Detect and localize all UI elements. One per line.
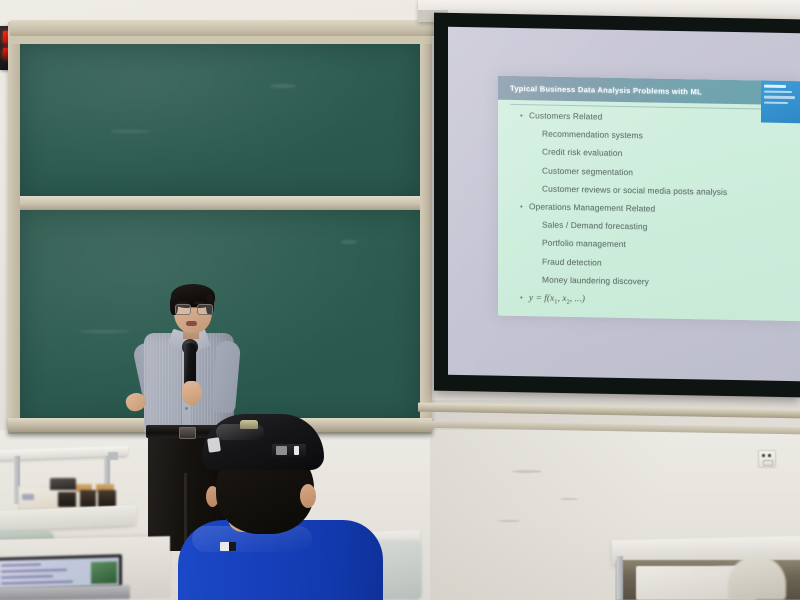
chalk-smudge [110,130,150,133]
power-outlet [758,450,776,468]
formula-fn: f(x [544,292,554,302]
screen-text-line [1,581,73,585]
glasses-icon [175,304,212,313]
dark-box [80,490,96,507]
glasses-lens [197,304,213,315]
screen-text-line [1,569,67,573]
projected-slide: Typical Business Data Analysis Problems … [498,76,800,322]
chalkboard-panel-upper [20,44,420,198]
chalk-smudge [270,84,296,88]
laptop-display [0,557,119,588]
outlet-slot-icon [768,454,771,457]
slide-bullet-text: Customers Related [529,110,602,121]
screen-panel [91,561,117,584]
screen-text-line [1,563,41,566]
presenter-mouth [186,321,197,326]
chalkboard-side-rail [8,44,20,422]
slide-bullet-text: Operations Management Related [529,201,655,213]
shirt-logo [220,542,236,551]
slide-title: Typical Business Data Analysis Problems … [510,83,702,96]
slide-bullet-text: Sales / Demand forecasting [542,220,647,232]
baseball-cap [202,414,324,470]
formula-eq: = [533,292,544,302]
projection-screen-surface: Typical Business Data Analysis Problems … [448,27,800,381]
slide-formula: y = f(x1, x2, ...) [529,292,585,306]
slide-bullet-text: Customer reviews or social media posts a… [542,183,727,196]
device-unit [50,478,76,490]
slide-bullet-text: Money laundering discovery [542,274,649,286]
cap-emblem-icon [240,420,258,429]
slide-bullet-text: Portfolio management [542,238,626,250]
note-line [764,96,795,99]
wall-scuff [560,498,578,500]
bullet-icon: • [520,112,529,120]
shelf-bracket [108,452,118,460]
wall-scuff [498,520,520,522]
cap-strap-hole [294,446,299,455]
dark-box [98,490,116,507]
slide-bullet-list: • Customers Related Recommendation syste… [498,110,800,316]
wall-scuff [512,470,542,473]
chalkboard-top-rail [10,20,434,36]
chalkboard-middle-rail [18,196,422,210]
chalk-smudge [340,240,358,244]
slide-bullet-text: Fraud detection [542,256,602,267]
student-foreground [178,402,393,600]
screen-text-line [1,575,53,578]
desk-leg [616,556,623,600]
outlet-slot-icon [762,454,765,457]
cap-patch [207,437,221,453]
slide-bullet-text: Customer segmentation [542,165,633,177]
dark-box [58,492,76,507]
presenter-right-hand [182,381,201,405]
slide-bullet-text: Credit risk evaluation [542,147,622,158]
formula-tail: , ...) [570,293,585,303]
glasses-bridge [189,307,197,308]
cap-buckle-icon [276,446,287,455]
outlet-socket-icon [763,460,773,466]
classroom-photo: Typical Business Data Analysis Problems … [0,0,800,600]
note-line [764,101,788,104]
box-label [22,494,34,500]
student-ear [300,484,316,508]
formula-mid: , x [558,293,567,303]
chalkboard-side-rail [420,44,432,422]
note-line [764,85,786,89]
bullet-icon: • [520,203,529,211]
bullet-icon: • [520,294,529,302]
slide-bullet-text: Recommendation systems [542,129,643,141]
glasses-lens [175,304,191,315]
note-line [764,91,792,94]
laptop-keyboard-base [0,585,130,600]
